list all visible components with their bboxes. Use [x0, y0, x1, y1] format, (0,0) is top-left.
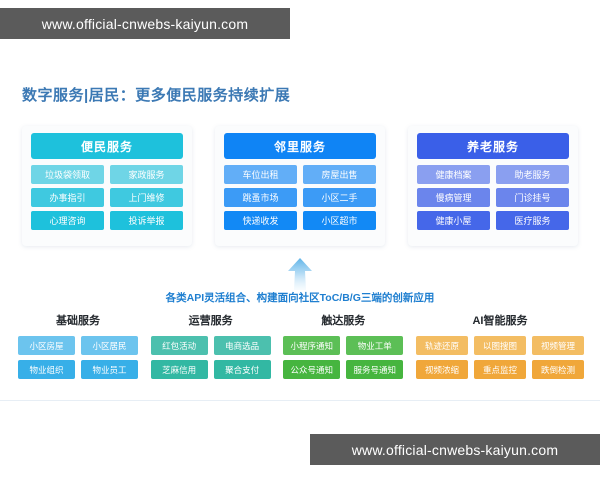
- service-card-linli[interactable]: 邻里服务 车位出租 房屋出售 跳蚤市场 小区二手 快递收发 小区超市: [215, 126, 385, 246]
- chip[interactable]: 红包活动: [151, 336, 208, 355]
- chip[interactable]: 小区房屋: [18, 336, 75, 355]
- page-title: 数字服务|居民：更多便民服务持续扩展: [22, 84, 290, 105]
- chip[interactable]: 小程序通知: [283, 336, 340, 355]
- upward-arrow-icon: [282, 258, 318, 290]
- group-title-chuda: 触达服务: [321, 312, 365, 328]
- chip[interactable]: 电商选品: [214, 336, 271, 355]
- tile[interactable]: 慢病管理: [417, 188, 490, 207]
- api-caption: 各类API灵活组合、构建面向社区ToC/B/G三端的创新应用: [0, 290, 600, 305]
- tile[interactable]: 小区二手: [303, 188, 376, 207]
- chip[interactable]: 物业组织: [18, 360, 75, 379]
- chip[interactable]: 视频浓缩: [416, 360, 468, 379]
- tile-grid-benmin: 垃圾袋领取 家政服务 办事指引 上门维修 心理咨询 投诉举报: [31, 165, 183, 230]
- service-cards-row: 便民服务 垃圾袋领取 家政服务 办事指引 上门维修 心理咨询 投诉举报 邻里服务…: [22, 126, 578, 246]
- tile[interactable]: 医疗服务: [496, 211, 569, 230]
- chip[interactable]: 小区居民: [81, 336, 138, 355]
- chip-grid-chuda: 小程序通知 物业工单 公众号通知 服务号通知: [283, 336, 403, 379]
- chip[interactable]: 服务号通知: [346, 360, 403, 379]
- bottom-group-chuda: 触达服务 小程序通知 物业工单 公众号通知 服务号通知: [283, 312, 403, 379]
- chip[interactable]: 聚合支付: [214, 360, 271, 379]
- chip[interactable]: 视频管理: [532, 336, 584, 355]
- tile[interactable]: 办事指引: [31, 188, 104, 207]
- tile[interactable]: 助老服务: [496, 165, 569, 184]
- chip-grid-ai: 轨迹还原 以图搜图 视频管理 视频浓缩 重点监控 跌倒检测: [416, 336, 584, 379]
- bottom-group-ai: AI智能服务 轨迹还原 以图搜图 视频管理 视频浓缩 重点监控 跌倒检测: [416, 312, 584, 379]
- card-header-linli: 邻里服务: [224, 133, 376, 159]
- chip[interactable]: 物业员工: [81, 360, 138, 379]
- tile[interactable]: 快递收发: [224, 211, 297, 230]
- chip-grid-yunying: 红包活动 电商选品 芝麻信用 聚合支付: [151, 336, 271, 379]
- tile[interactable]: 上门维修: [110, 188, 183, 207]
- bottom-group-yunying: 运营服务 红包活动 电商选品 芝麻信用 聚合支付: [151, 312, 271, 379]
- chip[interactable]: 重点监控: [474, 360, 526, 379]
- chip[interactable]: 物业工单: [346, 336, 403, 355]
- tile[interactable]: 家政服务: [110, 165, 183, 184]
- card-header-benmin: 便民服务: [31, 133, 183, 159]
- chip[interactable]: 轨迹还原: [416, 336, 468, 355]
- tile[interactable]: 房屋出售: [303, 165, 376, 184]
- bottom-sections-row: 基础服务 小区房屋 小区居民 物业组织 物业员工 运营服务 红包活动 电商选品 …: [18, 312, 584, 392]
- tile-grid-linli: 车位出租 房屋出售 跳蚤市场 小区二手 快递收发 小区超市: [224, 165, 376, 230]
- tile[interactable]: 健康档案: [417, 165, 490, 184]
- chip[interactable]: 以图搜图: [474, 336, 526, 355]
- tile[interactable]: 投诉举报: [110, 211, 183, 230]
- watermark-bottom: www.official-cnwebs-kaiyun.com: [310, 434, 600, 465]
- chip[interactable]: 跌倒检测: [532, 360, 584, 379]
- chip-grid-jichu: 小区房屋 小区居民 物业组织 物业员工: [18, 336, 138, 379]
- group-title-jichu: 基础服务: [56, 312, 100, 328]
- tile[interactable]: 垃圾袋领取: [31, 165, 104, 184]
- tile[interactable]: 小区超市: [303, 211, 376, 230]
- tile[interactable]: 健康小屋: [417, 211, 490, 230]
- service-card-yanglao[interactable]: 养老服务 健康档案 助老服务 慢病管理 门诊挂号 健康小屋 医疗服务: [408, 126, 578, 246]
- group-title-ai: AI智能服务: [472, 312, 527, 328]
- tile-grid-yanglao: 健康档案 助老服务 慢病管理 门诊挂号 健康小屋 医疗服务: [417, 165, 569, 230]
- tile[interactable]: 门诊挂号: [496, 188, 569, 207]
- bottom-divider: [0, 400, 600, 401]
- chip[interactable]: 芝麻信用: [151, 360, 208, 379]
- chip[interactable]: 公众号通知: [283, 360, 340, 379]
- card-header-yanglao: 养老服务: [417, 133, 569, 159]
- service-card-benmin[interactable]: 便民服务 垃圾袋领取 家政服务 办事指引 上门维修 心理咨询 投诉举报: [22, 126, 192, 246]
- group-title-yunying: 运营服务: [189, 312, 233, 328]
- bottom-group-jichu: 基础服务 小区房屋 小区居民 物业组织 物业员工: [18, 312, 138, 379]
- tile[interactable]: 车位出租: [224, 165, 297, 184]
- watermark-top: www.official-cnwebs-kaiyun.com: [0, 8, 290, 39]
- tile[interactable]: 心理咨询: [31, 211, 104, 230]
- tile[interactable]: 跳蚤市场: [224, 188, 297, 207]
